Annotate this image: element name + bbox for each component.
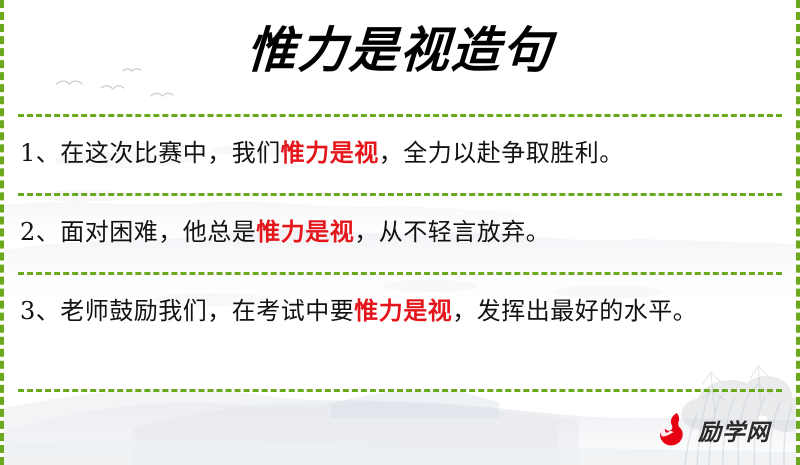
divider-3 xyxy=(18,272,782,275)
idiom-highlight-1: 惟力是视 xyxy=(281,138,379,167)
sentence-number-2: 2、 xyxy=(20,218,60,246)
flame-swirl-icon xyxy=(650,409,692,451)
sentence-text-after-3: ，发挥出最好的水平。 xyxy=(452,297,697,325)
site-watermark: 励学网 xyxy=(650,409,770,451)
document-page: 惟力是视造句 1、在这次比赛中，我们惟力是视，全力以赴争取胜利。 2、面对困难，… xyxy=(0,0,800,465)
sentence-item-3: 3、老师鼓励我们，在考试中要惟力是视，发挥出最好的水平。 xyxy=(20,289,780,333)
sentence-number-3: 3、 xyxy=(20,297,60,325)
sentence-text-before-1: 在这次比赛中，我们 xyxy=(60,139,281,167)
sentence-text-before-2: 面对困难，他总是 xyxy=(60,218,256,246)
sentence-item-2: 2、面对困难，他总是惟力是视，从不轻言放弃。 xyxy=(20,210,780,254)
divider-4 xyxy=(18,389,782,392)
site-watermark-label: 励学网 xyxy=(698,413,770,447)
sentence-text-before-3: 老师鼓励我们，在考试中要 xyxy=(60,297,354,325)
sentence-number-1: 1、 xyxy=(20,139,60,167)
sentence-item-1: 1、在这次比赛中，我们惟力是视，全力以赴争取胜利。 xyxy=(20,131,780,175)
idiom-highlight-3: 惟力是视 xyxy=(354,296,452,325)
page-title: 惟力是视造句 xyxy=(2,18,797,82)
document-content: 惟力是视造句 1、在这次比赛中，我们惟力是视，全力以赴争取胜利。 2、面对困难，… xyxy=(4,0,796,465)
divider-1 xyxy=(18,114,782,117)
sentence-text-after-1: ，全力以赴争取胜利。 xyxy=(379,139,624,167)
idiom-highlight-2: 惟力是视 xyxy=(256,217,354,246)
sentence-text-after-2: ，从不轻言放弃。 xyxy=(354,218,550,246)
divider-2 xyxy=(18,193,782,196)
